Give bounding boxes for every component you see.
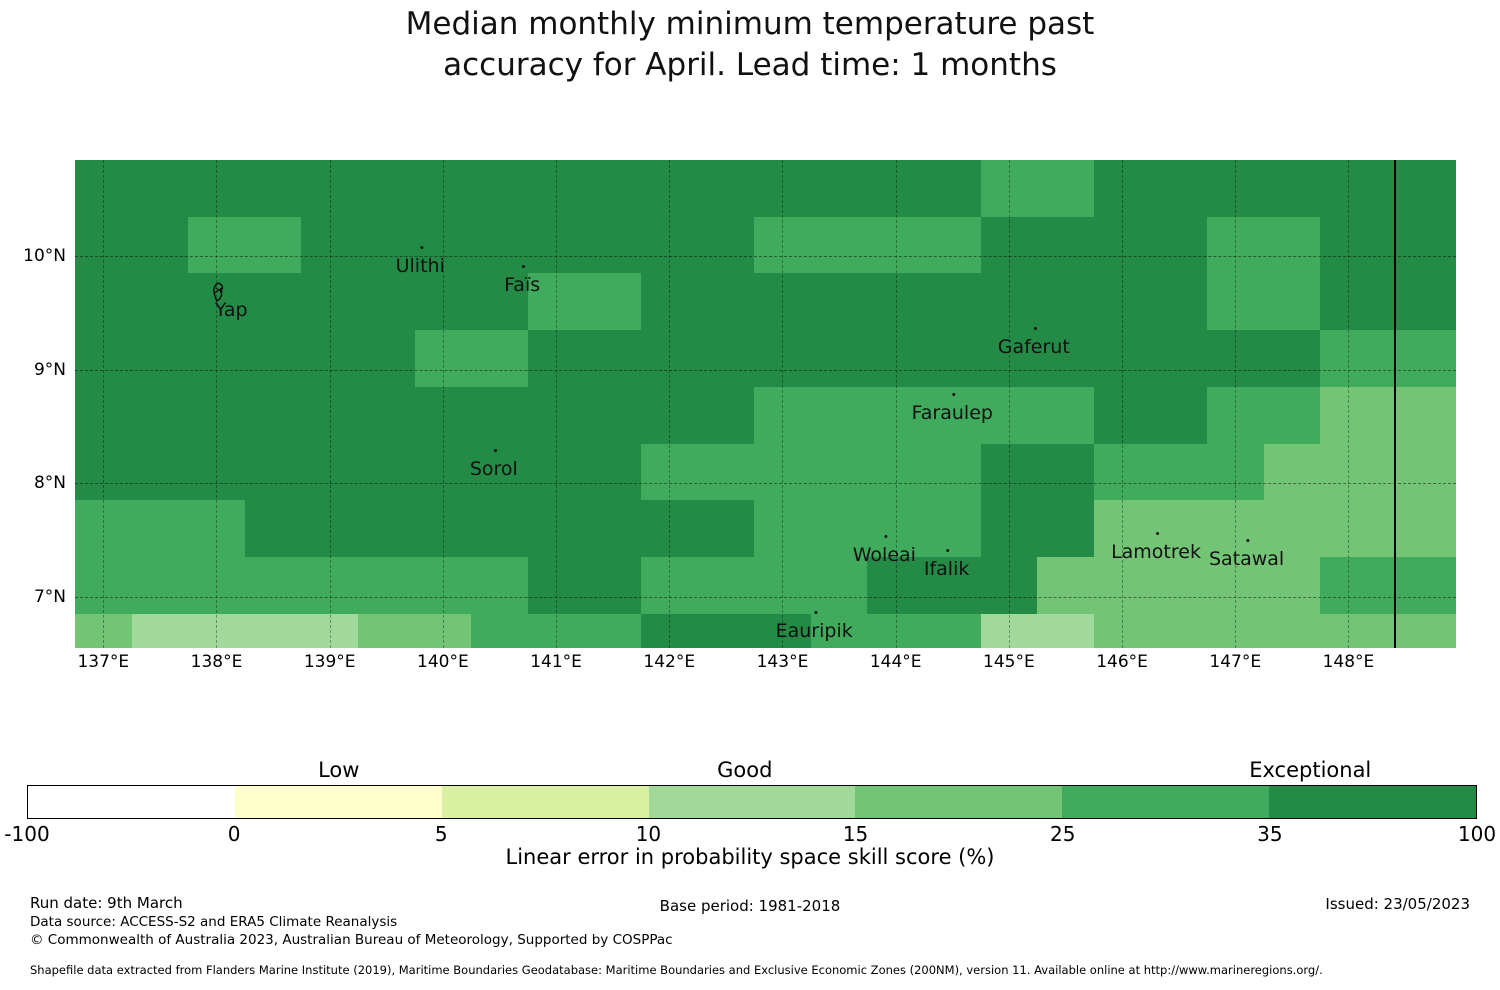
heatmap-cell [1037,217,1094,274]
heatmap-cell [584,557,641,614]
heatmap-cell [924,444,981,501]
y-axis-tick-label: 10°N [23,246,66,266]
heatmap-cell [1264,273,1321,330]
island-label-fas: Faïs [504,274,540,296]
heatmap-cell [1150,217,1207,274]
island-marker-dot [814,611,817,614]
heatmap-cell [1150,614,1207,648]
colorbar-category-label: Exceptional [1249,758,1371,782]
gridline-longitude [1235,160,1236,648]
heatmap-cell [132,444,189,501]
colorbar-tick-label: 35 [1257,822,1282,846]
gridline-latitude [75,597,1456,598]
heatmap-cell [698,500,755,557]
heatmap-cell [811,387,868,444]
heatmap-cell [1264,444,1321,501]
y-axis-tick-label: 8°N [34,473,66,493]
heatmap-cell [1377,557,1456,614]
island-name: Ulithi [396,255,445,277]
island-name: Yap [215,299,248,321]
island-marker-dot [420,246,423,249]
x-axis-tick-label: 145°E [983,652,1035,672]
heatmap-cell [245,444,302,501]
base-period: Base period: 1981-2018 [0,897,1500,915]
heatmap-cell [698,614,755,648]
island-label-yap: Yap [215,299,248,321]
heatmap-cell [132,160,189,217]
colorbar-tick-label: 100 [1458,822,1496,846]
island-name: Lamotrek [1111,541,1201,563]
heatmap-cell [698,217,755,274]
x-axis-tick-label: 140°E [417,652,469,672]
heatmap-cell [1150,387,1207,444]
x-axis-tick-label: 138°E [191,652,243,672]
heatmap-cell [1377,500,1456,557]
island-name: Sorol [470,458,518,480]
colorbar-segment [1062,786,1269,818]
y-axis-tick-label: 7°N [34,587,66,607]
heatmap-cell [924,217,981,274]
heatmap-cell [358,273,415,330]
gridline-longitude [443,160,444,648]
heatmap-cell [1150,330,1207,387]
heatmap-cell [1377,387,1456,444]
heatmap-cell [698,387,755,444]
heatmap-cell [924,500,981,557]
heatmap-cell [471,387,528,444]
island-marker-dot [522,265,525,268]
island-name: Gaferut [998,336,1070,358]
map-figure [75,160,1456,648]
colorbar-tick-label: 25 [1050,822,1075,846]
heatmap-cell [471,217,528,274]
heatmap-cell [245,273,302,330]
colorbar-axis-label: Linear error in probability space skill … [0,845,1500,869]
island-name: Faïs [504,274,540,296]
island-marker-dot [1247,539,1250,542]
island-label-eauripik: Eauripik [776,620,853,642]
island-label-woleai: Woleai [853,544,916,566]
colorbar-segment [1269,786,1476,818]
heatmap-cell [471,160,528,217]
heatmap-cell [245,387,302,444]
gridline-longitude [669,160,670,648]
x-axis-tick-label: 142°E [643,652,695,672]
island-name: Satawal [1209,548,1284,570]
island-name: Faraulep [912,402,993,424]
heatmap-cell [358,557,415,614]
island-marker-dot [947,549,950,552]
heatmap-cell [358,614,415,648]
island-marker-dot [494,449,497,452]
heatmap-cell [1377,273,1456,330]
heatmap-cell [132,500,189,557]
heatmap-cell [698,444,755,501]
island-label-faraulep: Faraulep [912,402,993,424]
heatmap-cell [1377,160,1456,217]
heatmap-cell [132,557,189,614]
x-axis-tick-label: 143°E [757,652,809,672]
island-label-ifalik: Ifalik [924,558,970,580]
x-axis-tick-label: 141°E [530,652,582,672]
heatmap-cell [245,217,302,274]
heatmap-cell [1150,273,1207,330]
island-label-gaferut: Gaferut [998,336,1070,358]
gridline-longitude [782,160,783,648]
heatmap-cell [811,444,868,501]
heatmap-cell [358,330,415,387]
heatmap-cell [245,614,302,648]
heatmap-cell [132,217,189,274]
colorbar-tick-label: 5 [435,822,448,846]
heatmap-cell [584,614,641,648]
gridline-latitude [75,370,1456,371]
colorbar[interactable] [27,785,1477,819]
data-source: Data source: ACCESS-S2 and ERA5 Climate … [30,913,673,931]
heatmap-cell [811,330,868,387]
heatmap-cell [1377,217,1456,274]
heatmap-cell [1150,444,1207,501]
island-label-sorol: Sorol [470,458,518,480]
gridline-latitude [75,483,1456,484]
island-label-lamotrek: Lamotrek [1111,541,1201,563]
heatmap-cell [1377,330,1456,387]
heatmap-cell [245,500,302,557]
heatmap-cell [811,160,868,217]
island-name: Eauripik [776,620,853,642]
colorbar-category-label: Good [717,758,772,782]
colorbar-segment [235,786,442,818]
colorbar-tick-label: -100 [4,822,49,846]
gridline-longitude [330,160,331,648]
heatmap-cell [1377,444,1456,501]
heatmap-cell [358,444,415,501]
heatmap-cell [1037,557,1094,614]
x-axis-tick-label: 144°E [870,652,922,672]
heatmap-cell [1264,217,1321,274]
heatmap-cell [698,330,755,387]
heatmap-cell [471,330,528,387]
chart-title: Median monthly minimum temperature past … [0,4,1500,86]
heatmap-cell [584,273,641,330]
heatmap-cell [924,160,981,217]
heatmap-cell [1264,330,1321,387]
gridline-longitude [216,160,217,648]
x-axis-tick-label: 148°E [1323,652,1375,672]
colorbar-segment [28,786,235,818]
heatmap-cell [132,387,189,444]
heatmap-cell [471,614,528,648]
heatmap-cell [245,330,302,387]
x-axis-tick-label: 146°E [1096,652,1148,672]
colorbar-segment [855,786,1062,818]
colorbar-tick-label: 10 [636,822,661,846]
heatmap-cell [584,330,641,387]
gridline-longitude [1122,160,1123,648]
colorbar-segment [649,786,856,818]
colorbar-category-label: Low [318,758,359,782]
heatmap-cell [584,387,641,444]
heatmap-cell [132,273,189,330]
heatmap-cell [584,500,641,557]
copyright: © Commonwealth of Australia 2023, Austra… [30,931,673,949]
gridline-longitude [556,160,557,648]
heatmap-cell [471,500,528,557]
heatmap-cell [358,160,415,217]
heatmap-cell [698,273,755,330]
heatmap-cell [924,614,981,648]
shapefile-attribution: Shapefile data extracted from Flanders M… [30,963,1323,977]
heatmap-cell [1037,444,1094,501]
heatmap-cell [358,387,415,444]
heatmap-cell [245,160,302,217]
heatmap-cell [132,614,189,648]
heatmap-cell [1264,387,1321,444]
colorbar-tick-label: 0 [228,822,241,846]
colorbar-tick-label: 15 [843,822,868,846]
heatmap-cell [1037,160,1094,217]
x-axis-tick-label: 139°E [304,652,356,672]
gridline-latitude [75,256,1456,257]
heatmap-cell [132,330,189,387]
heatmap-cell [1037,273,1094,330]
colorbar-segment [442,786,649,818]
heatmap-cell [1264,614,1321,648]
heatmap-cell [584,444,641,501]
heatmap-cell [811,217,868,274]
heatmap-cell [1150,160,1207,217]
heatmap-cell [584,217,641,274]
gridline-longitude [1009,160,1010,648]
yap-landmass-icon [211,282,229,302]
y-axis-tick-label: 9°N [34,360,66,380]
island-marker-dot [952,393,955,396]
x-axis-tick-label: 147°E [1209,652,1261,672]
heatmap-cell [1150,557,1207,614]
heatmap-cell [1037,500,1094,557]
heatmap-cell [924,273,981,330]
heatmap-cell [1037,614,1094,648]
heatmap-cell [245,557,302,614]
heatmap-cell [1037,387,1094,444]
issued-date: Issued: 23/05/2023 [1325,895,1470,913]
heatmap-cell [698,557,755,614]
gridline-longitude [896,160,897,648]
heatmap-cell [584,160,641,217]
gridline-longitude [1348,160,1349,648]
island-label-ulithi: Ulithi [396,255,445,277]
island-label-satawal: Satawal [1209,548,1284,570]
heatmap-cell [924,330,981,387]
heatmap-cell [471,557,528,614]
island-name: Woleai [853,544,916,566]
heatmap-cell [698,160,755,217]
island-marker-dot [1156,532,1159,535]
island-marker-dot [884,535,887,538]
island-name: Ifalik [924,558,970,580]
eez-boundary-line [1394,160,1396,648]
heatmap-cell [1264,160,1321,217]
gridline-longitude [103,160,104,648]
heatmap-cell [358,500,415,557]
x-axis-tick-label: 137°E [77,652,129,672]
heatmap-canvas[interactable] [75,160,1456,648]
heatmap-cell [811,273,868,330]
heatmap-cell [1377,614,1456,648]
